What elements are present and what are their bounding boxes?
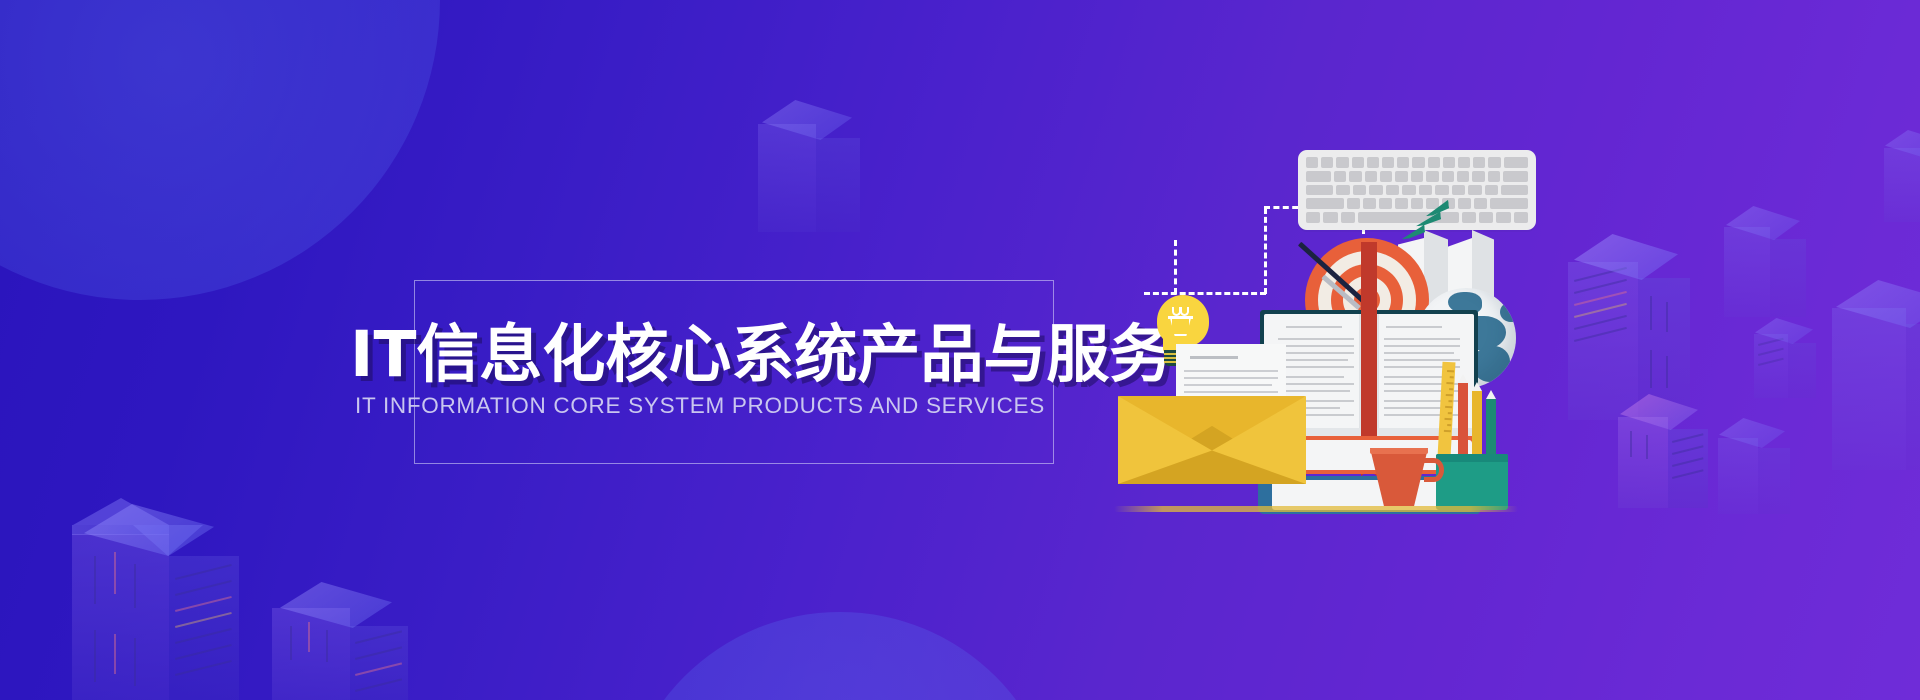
spacebar-key	[1358, 212, 1459, 223]
key	[1363, 198, 1376, 209]
key	[1428, 157, 1440, 168]
pencil-icon	[1472, 382, 1482, 462]
key	[1353, 185, 1367, 196]
surface-line	[1114, 506, 1518, 512]
key	[1306, 198, 1344, 209]
key	[1411, 198, 1424, 209]
bookmark-icon	[1361, 242, 1377, 464]
key	[1457, 171, 1469, 182]
key	[1462, 212, 1476, 223]
coffee-cup-icon	[1370, 448, 1446, 510]
key	[1336, 185, 1350, 196]
key	[1490, 198, 1528, 209]
key	[1501, 185, 1528, 196]
envelope-icon	[1118, 396, 1306, 484]
page-title: IT信息化核心系统产品与服务	[350, 318, 1110, 392]
isometric-building-icon-top-center	[758, 98, 878, 233]
isometric-building-icon-right-low	[1718, 418, 1818, 514]
key	[1488, 171, 1500, 182]
table-row	[1306, 157, 1528, 168]
pencil-icon	[1458, 374, 1468, 460]
key	[1411, 171, 1423, 182]
key	[1397, 157, 1409, 168]
keyboard-icon-top	[1298, 150, 1536, 230]
decorative-circle-top-left	[0, 0, 440, 300]
key	[1472, 171, 1484, 182]
key	[1485, 185, 1499, 196]
key	[1442, 171, 1454, 182]
key	[1426, 171, 1438, 182]
key	[1365, 171, 1377, 182]
key	[1412, 157, 1424, 168]
key	[1334, 171, 1346, 182]
key	[1402, 185, 1416, 196]
key	[1306, 185, 1333, 196]
key	[1379, 198, 1392, 209]
table-row	[1306, 212, 1528, 223]
key	[1349, 171, 1361, 182]
isometric-building-icon-far-right-big	[1832, 278, 1920, 470]
isometric-building-icon-right-tiny	[1754, 318, 1844, 398]
key	[1419, 185, 1433, 196]
table-row	[1306, 185, 1528, 196]
key	[1306, 171, 1331, 182]
key	[1504, 157, 1528, 168]
isometric-building-icon-bottom-left-short	[272, 578, 432, 700]
key	[1514, 212, 1528, 223]
key	[1352, 157, 1364, 168]
key	[1306, 157, 1318, 168]
isometric-building-icon-far-right-edge	[1884, 130, 1920, 222]
key	[1458, 157, 1470, 168]
key	[1386, 185, 1400, 196]
it-services-hero-banner: IT信息化核心系统产品与服务 IT INFORMATION CORE SYSTE…	[0, 0, 1920, 700]
key	[1458, 198, 1471, 209]
headline-text: IT信息化核心系统产品与服务	[350, 318, 1110, 392]
isometric-building-icon-right-mid	[1724, 205, 1834, 317]
subtitle-text: IT INFORMATION CORE SYSTEM PRODUCTS AND …	[355, 393, 1115, 419]
key	[1369, 185, 1383, 196]
key	[1435, 185, 1449, 196]
key	[1503, 171, 1528, 182]
key	[1395, 171, 1407, 182]
key	[1496, 212, 1510, 223]
key	[1468, 185, 1482, 196]
key	[1380, 171, 1392, 182]
key	[1474, 198, 1487, 209]
key	[1341, 212, 1355, 223]
decorative-circle-bottom-center	[620, 612, 1060, 700]
key	[1452, 185, 1466, 196]
it-services-illustration	[1120, 130, 1540, 580]
key	[1306, 212, 1320, 223]
key	[1323, 212, 1337, 223]
key	[1426, 198, 1439, 209]
key	[1382, 157, 1394, 168]
key	[1347, 198, 1360, 209]
key	[1488, 157, 1500, 168]
key	[1473, 157, 1485, 168]
key	[1336, 157, 1348, 168]
key	[1395, 198, 1408, 209]
key	[1321, 157, 1333, 168]
pencil-holder-icon	[1436, 380, 1516, 512]
isometric-building-icon-right-tall	[1568, 232, 1728, 420]
table-row	[1306, 198, 1528, 209]
key	[1367, 157, 1379, 168]
key	[1479, 212, 1493, 223]
key	[1443, 157, 1455, 168]
pencil-icon	[1486, 390, 1496, 464]
table-row	[1306, 171, 1528, 182]
isometric-building-icon-bottom-left-tall	[72, 498, 272, 700]
